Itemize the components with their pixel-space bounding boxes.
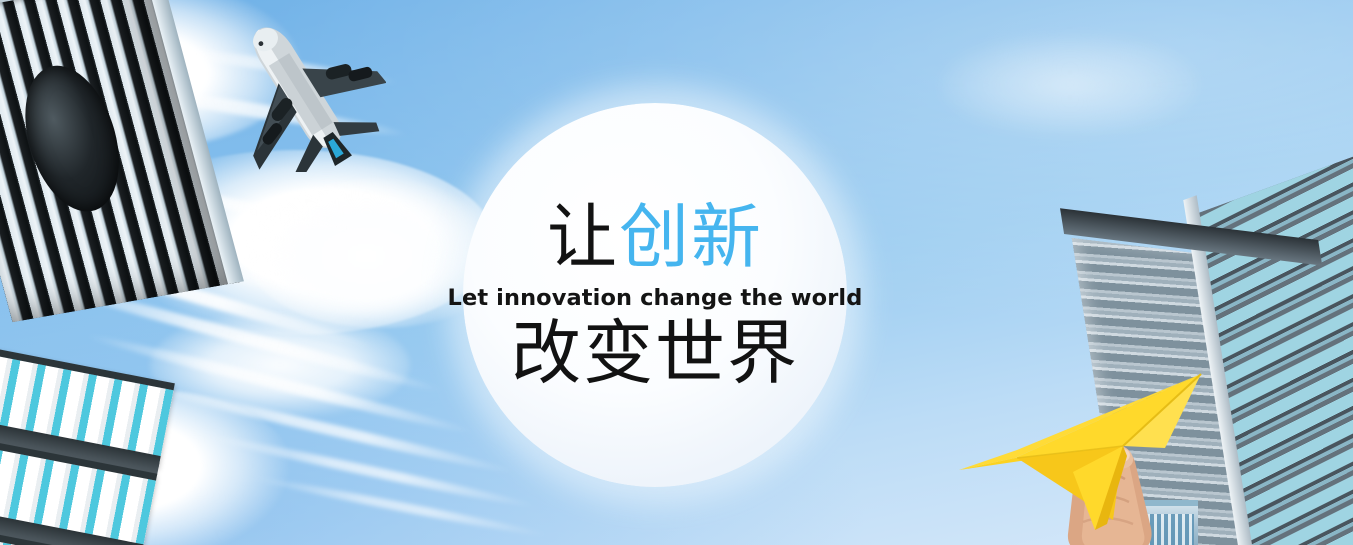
headline-line-1-accent: 创新 (619, 196, 763, 278)
cloud-puff (940, 30, 1200, 140)
airplane (216, 2, 386, 172)
banner-copy: 让创新 Let innovation change the world 改变世界 (463, 103, 847, 487)
paper-plane-icon (955, 352, 1235, 545)
airplane-icon (216, 2, 386, 172)
hand-with-paper-plane (955, 352, 1235, 545)
headline-line-2: 改变世界 (511, 317, 799, 390)
hero-banner: 让创新 Let innovation change the world 改变世界 (0, 0, 1353, 545)
headline-line-1: 让创新 (547, 201, 763, 274)
subheadline-english: Let innovation change the world (448, 285, 863, 311)
headline-line-1-black: 让 (547, 196, 619, 278)
